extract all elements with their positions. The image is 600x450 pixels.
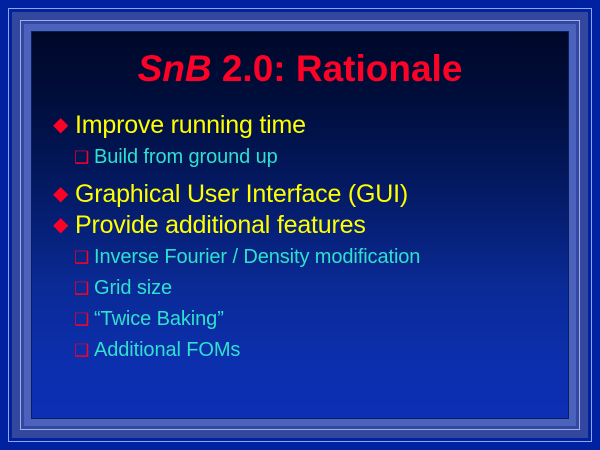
slide-title: SnB 2.0: Rationale <box>32 50 568 89</box>
slide-title-emphasis: SnB <box>138 48 212 89</box>
bullet-label: Additional FOMs <box>94 337 240 364</box>
bullet-item-level2: ❑ Additional FOMs <box>50 337 558 364</box>
bullet-item-level2: ❑ “Twice Baking” <box>50 306 558 333</box>
bullet-item-level2: ❑ Inverse Fourier / Density modification <box>50 244 558 271</box>
bullet-item-level2: ❑ Build from ground up <box>50 144 558 171</box>
bullet-label: Inverse Fourier / Density modification <box>94 244 420 271</box>
bullet-label: Provide additional features <box>75 210 366 240</box>
bullet-list: ◆ Improve running time ❑ Build from grou… <box>50 110 558 365</box>
bullet-label: “Twice Baking” <box>94 306 224 333</box>
square-bullet-icon: ❑ <box>74 144 94 171</box>
diamond-bullet-icon: ◆ <box>53 179 75 209</box>
slide-title-rest: 2.0: Rationale <box>212 48 463 89</box>
presentation-slide: SnB 2.0: Rationale ◆ Improve running tim… <box>0 0 600 450</box>
square-bullet-icon: ❑ <box>74 337 94 364</box>
diamond-bullet-icon: ◆ <box>53 210 75 240</box>
square-bullet-icon: ❑ <box>74 306 94 333</box>
square-bullet-icon: ❑ <box>74 275 94 302</box>
bullet-item-level1: ◆ Improve running time <box>50 110 558 140</box>
bullet-label: Grid size <box>94 275 172 302</box>
square-bullet-icon: ❑ <box>74 244 94 271</box>
bullet-label: Build from ground up <box>94 144 278 171</box>
bullet-item-level2: ❑ Grid size <box>50 275 558 302</box>
bullet-item-level1: ◆ Provide additional features <box>50 210 558 240</box>
slide-content-panel: SnB 2.0: Rationale ◆ Improve running tim… <box>32 32 568 418</box>
diamond-bullet-icon: ◆ <box>53 110 75 140</box>
bullet-label: Graphical User Interface (GUI) <box>75 179 408 209</box>
bullet-item-level1: ◆ Graphical User Interface (GUI) <box>50 179 558 209</box>
bullet-label: Improve running time <box>75 110 306 140</box>
